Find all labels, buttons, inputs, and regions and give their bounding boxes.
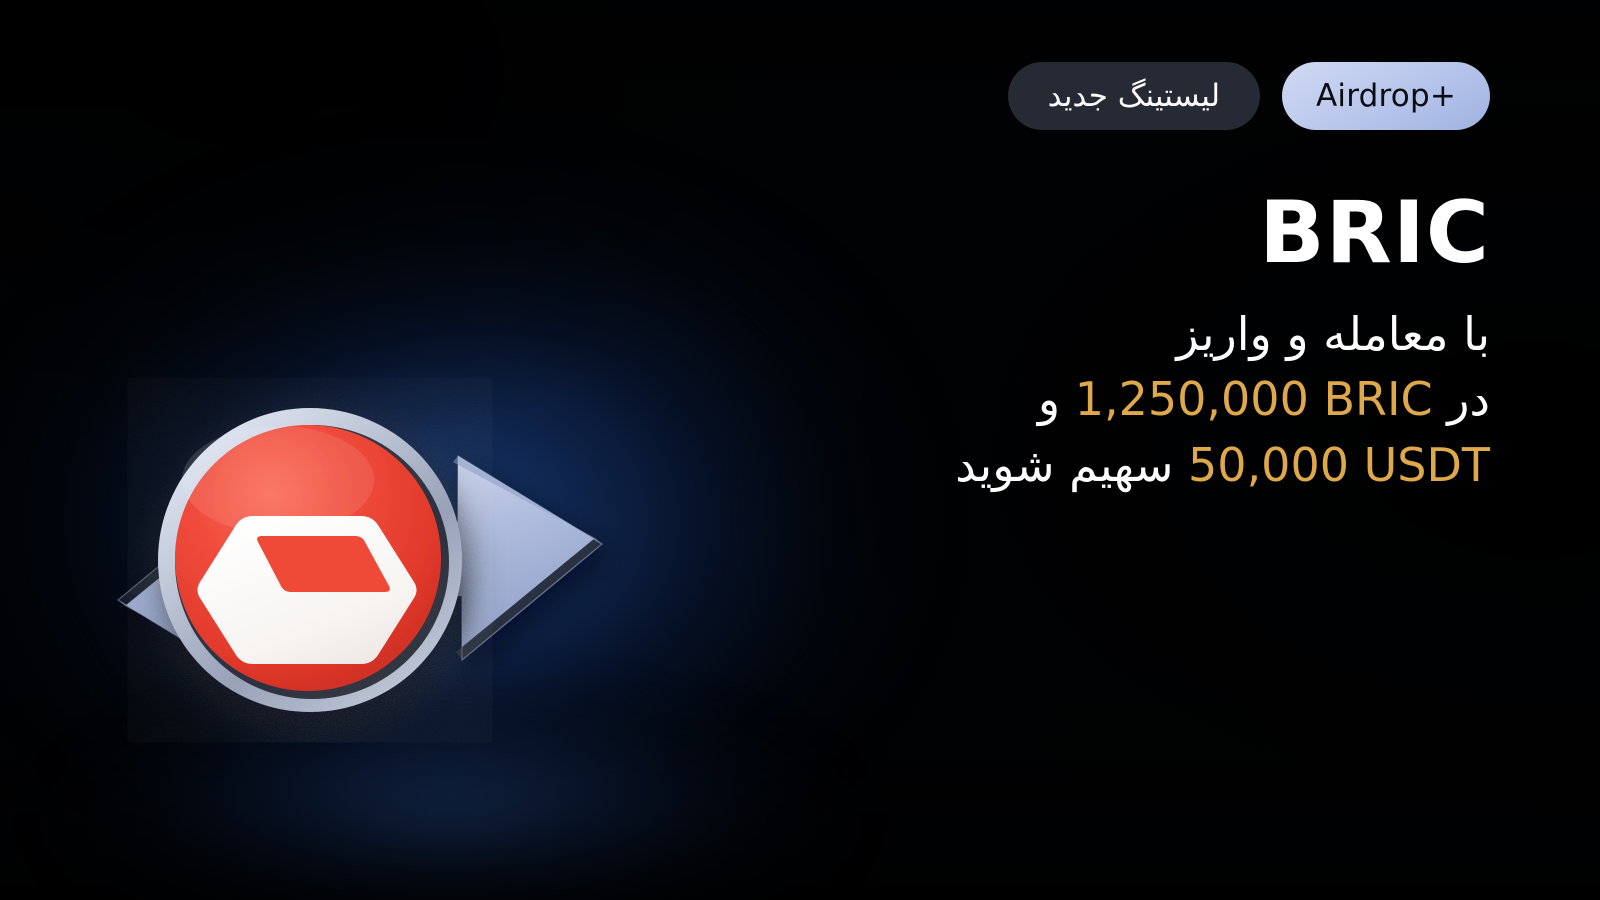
promo-banner: لیستینگ جدید Airdrop+ BRIC با معامله و و… [0,0,1600,900]
desc-line-1: با معامله و واریز [790,302,1490,367]
promo-description: با معامله و واریز در 1,250,000 BRIC و 50… [790,302,1490,498]
reward-amount-usdt: 50,000 USDT [1188,433,1490,498]
desc-line-2-prefix: در [1447,372,1490,426]
desc-line-3: 50,000 USDT سهیم شوید [790,433,1490,498]
badge-airdrop-plus[interactable]: Airdrop+ [1282,62,1490,130]
content-column: لیستینگ جدید Airdrop+ BRIC با معامله و و… [790,62,1490,498]
bric-box-hexagon-logo [198,516,417,664]
desc-line-2-suffix: و [1038,372,1060,426]
hero-artwork [10,330,730,780]
desc-line-3-suffix: سهیم شوید [955,438,1173,492]
reward-amount-bric: 1,250,000 BRIC [1075,367,1433,432]
badge-row: لیستینگ جدید Airdrop+ [1008,62,1490,130]
badge-new-listing[interactable]: لیستینگ جدید [1008,62,1260,130]
desc-line-2: در 1,250,000 BRIC و [790,367,1490,432]
bric-coin [158,408,462,712]
token-ticker: BRIC [790,190,1490,276]
